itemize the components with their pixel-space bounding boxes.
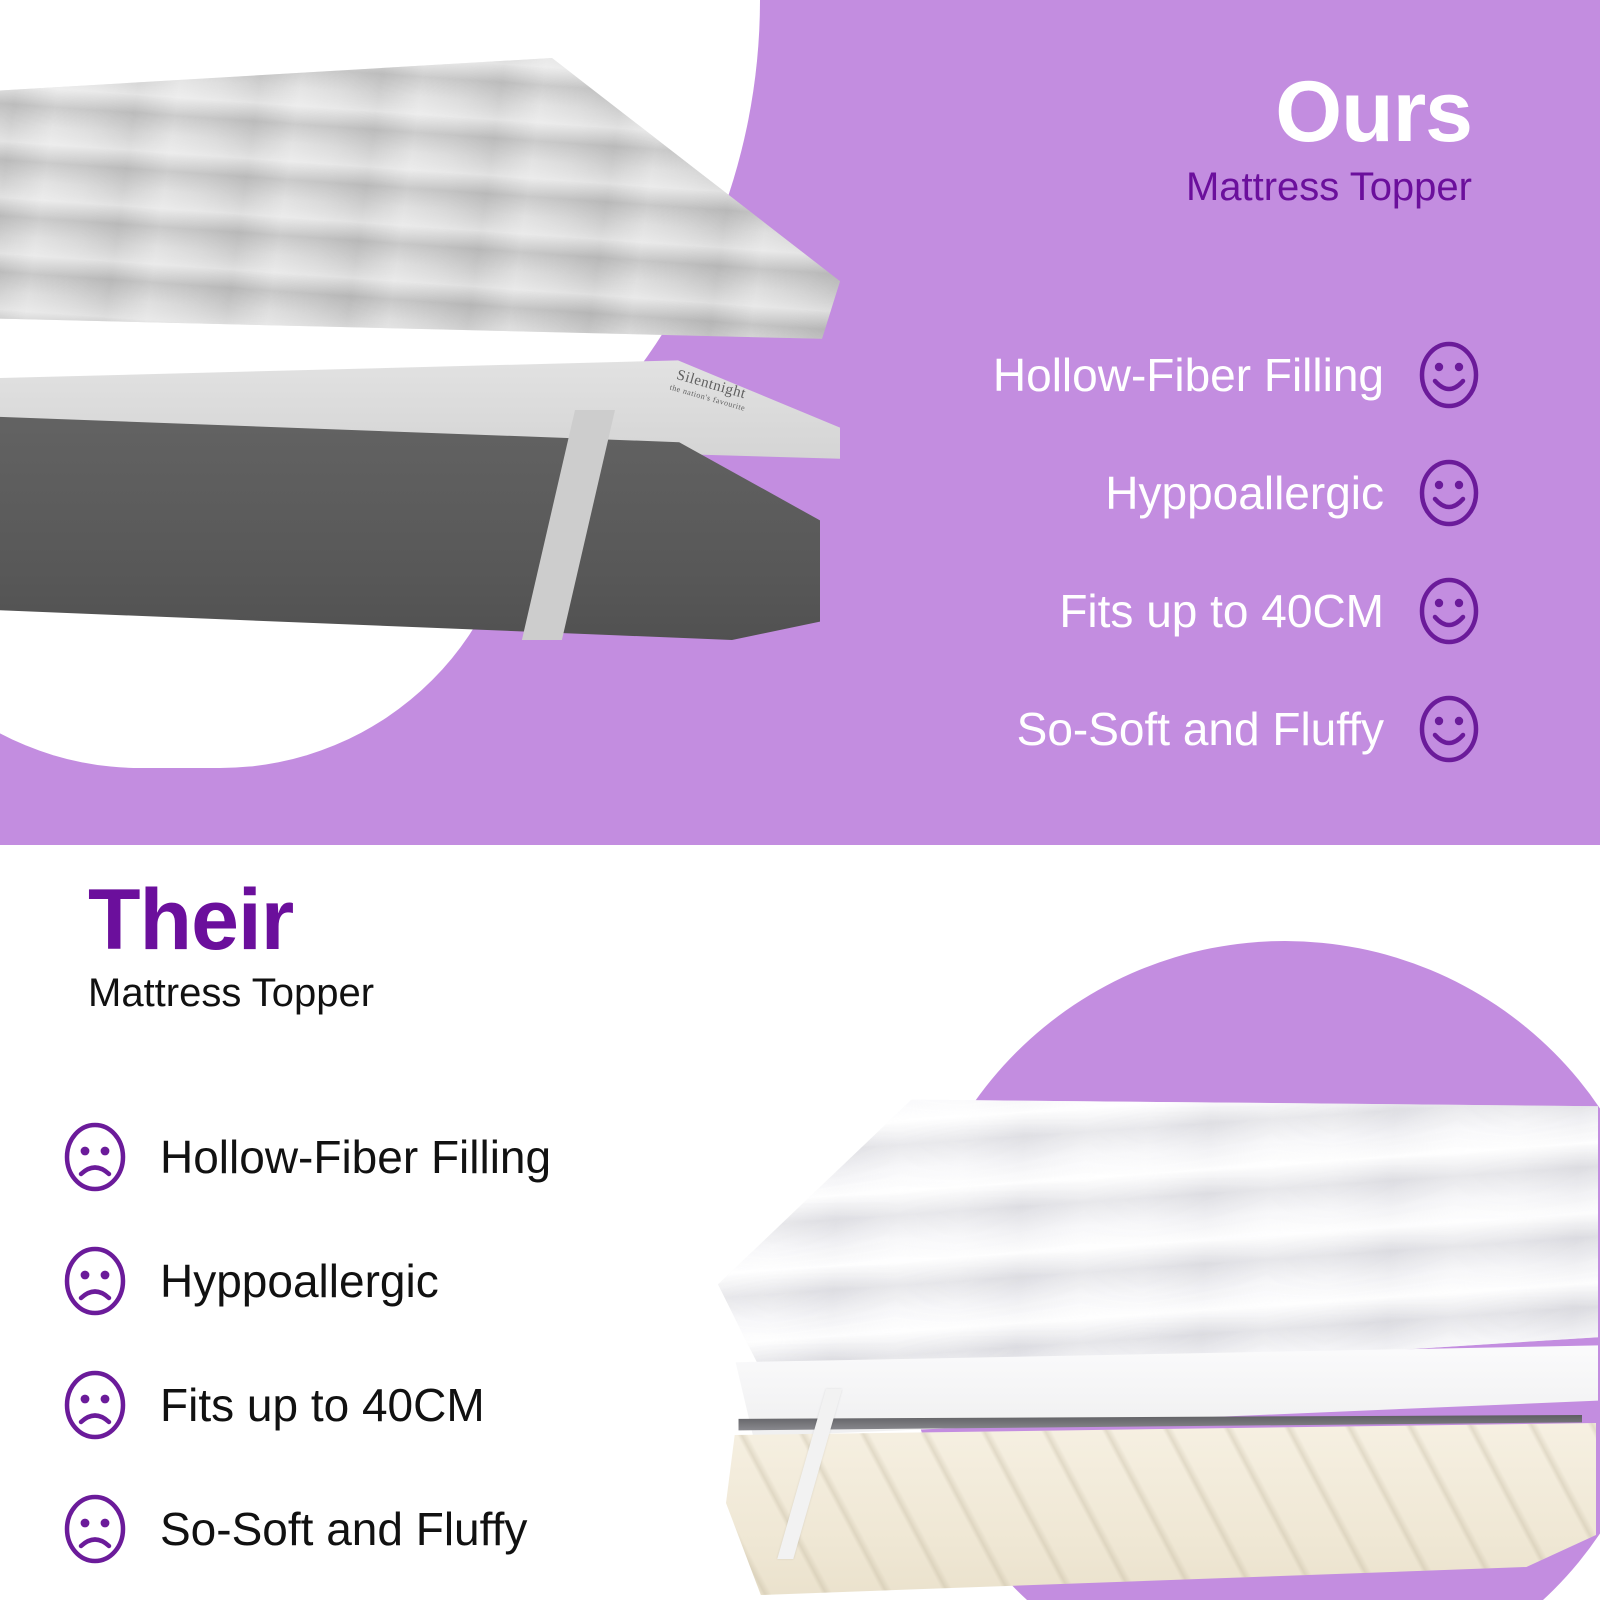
ours-feature-row: Hyppoallergic xyxy=(780,434,1480,552)
ours-feature-row: So-Soft and Fluffy xyxy=(780,670,1480,788)
their-panel: Their Mattress Topper Hollow-Fiber Filli… xyxy=(0,845,1600,1600)
their-product-image xyxy=(718,1093,1600,1600)
smiley-sad-icon xyxy=(62,1368,128,1442)
smiley-sad-icon xyxy=(62,1120,128,1194)
ours-feature-label: So-Soft and Fluffy xyxy=(1017,702,1384,756)
their-feature-label: Hyppoallergic xyxy=(160,1254,439,1308)
ours-product-image: Silentnight the nation's favourite xyxy=(0,58,870,618)
ours-feature-label: Hollow-Fiber Filling xyxy=(993,348,1384,402)
their-feature-row: So-Soft and Fluffy xyxy=(62,1467,782,1591)
their-feature-label: Hollow-Fiber Filling xyxy=(160,1130,551,1184)
ours-feature-row: Fits up to 40CM xyxy=(780,552,1480,670)
smiley-happy-icon xyxy=(1418,694,1480,764)
mattress-base-quilting xyxy=(726,1423,1596,1600)
comparison-infographic: Silentnight the nation's favourite Ours … xyxy=(0,0,1600,1600)
ours-feature-row: Hollow-Fiber Filling xyxy=(780,316,1480,434)
their-feature-label: Fits up to 40CM xyxy=(160,1378,485,1432)
their-feature-label: So-Soft and Fluffy xyxy=(160,1502,527,1556)
their-heading-block: Their Mattress Topper xyxy=(88,880,374,1014)
smiley-sad-icon xyxy=(62,1492,128,1566)
their-feature-row: Hyppoallergic xyxy=(62,1219,782,1343)
smiley-happy-icon xyxy=(1418,340,1480,410)
ours-feature-label: Fits up to 40CM xyxy=(1059,584,1384,638)
their-feature-row: Fits up to 40CM xyxy=(62,1343,782,1467)
ours-panel: Silentnight the nation's favourite Ours … xyxy=(0,0,1600,845)
ours-subtitle: Mattress Topper xyxy=(1186,166,1472,208)
their-title: Their xyxy=(88,880,374,962)
ours-title: Ours xyxy=(1186,72,1472,154)
ours-heading-block: Ours Mattress Topper xyxy=(1186,72,1472,208)
ours-feature-label: Hyppoallergic xyxy=(1105,466,1384,520)
smiley-sad-icon xyxy=(62,1244,128,1318)
their-feature-row: Hollow-Fiber Filling xyxy=(62,1095,782,1219)
their-subtitle: Mattress Topper xyxy=(88,972,374,1014)
ours-feature-list: Hollow-Fiber Filling Hyppoallergic xyxy=(780,316,1480,788)
topper-quilting xyxy=(0,58,840,418)
smiley-happy-icon xyxy=(1418,458,1480,528)
smiley-happy-icon xyxy=(1418,576,1480,646)
their-feature-list: Hollow-Fiber Filling Hyppoallergic xyxy=(62,1095,782,1591)
